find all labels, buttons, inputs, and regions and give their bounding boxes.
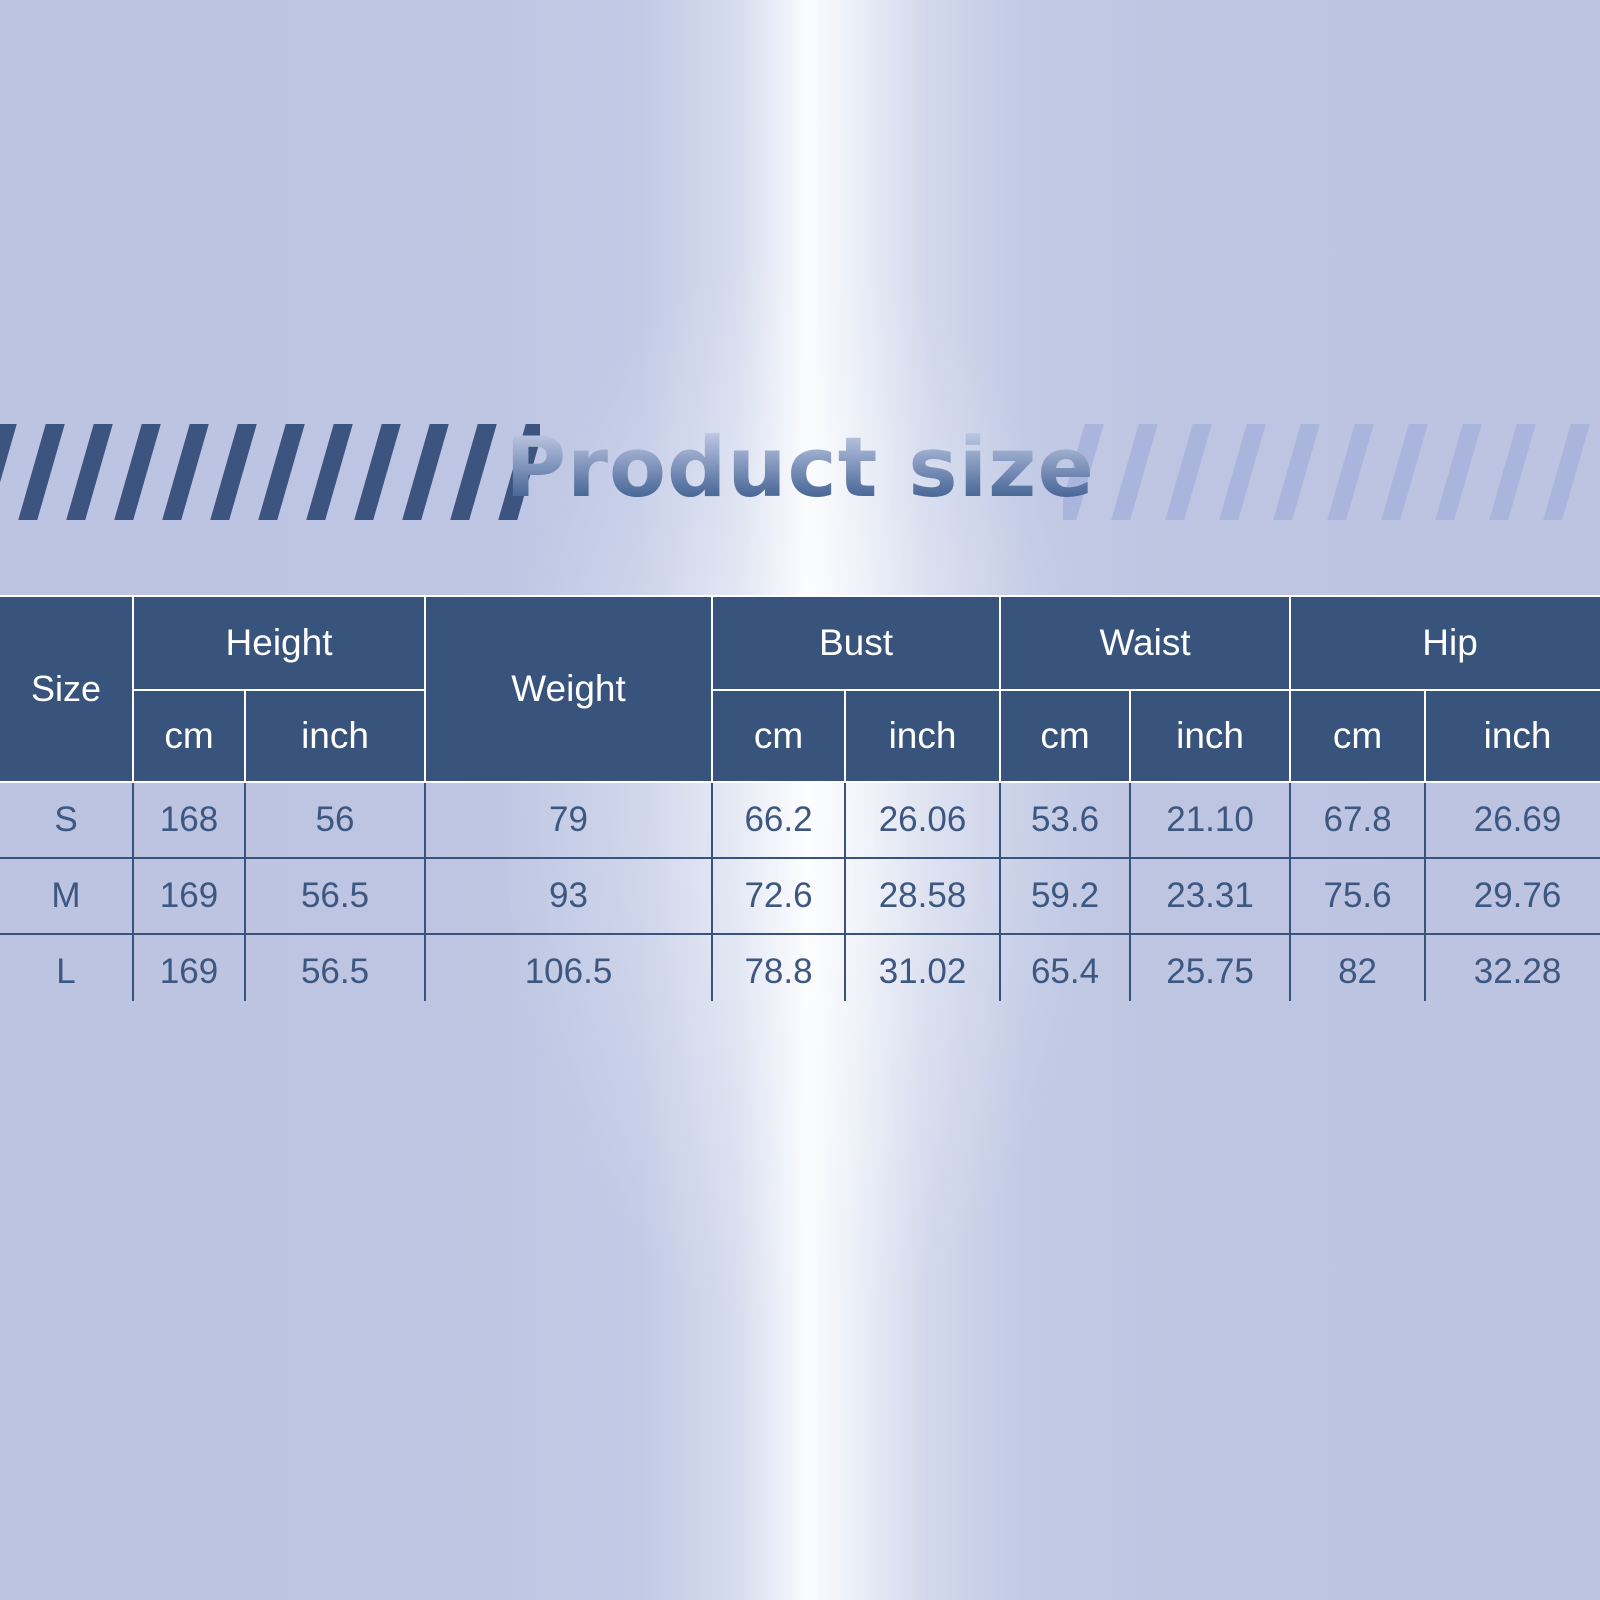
cell-bust-cm: 78.8 [712,934,845,1001]
header-height: Height [133,596,425,690]
cell-hip-inch: 32.28 [1425,934,1600,1001]
cell-hip-inch: 26.69 [1425,782,1600,858]
cell-weight-kg: 79 [425,782,712,858]
cell-waist-cm: 59.2 [1000,858,1130,934]
size-table-container: Size Height Weight Bust Waist Hip cm inc… [0,595,1600,1001]
cell-weight-kg: 106.5 [425,934,712,1001]
cell-size: L [0,934,133,1001]
cell-hip-cm: 75.6 [1290,858,1425,934]
header-hip: Hip [1290,596,1600,690]
cell-hip-cm: 82 [1290,934,1425,1001]
size-table-body: S168567966.226.0653.621.1067.826.69M1695… [0,782,1600,1001]
cell-waist-cm: 53.6 [1000,782,1130,858]
cell-size: S [0,782,133,858]
header-bust-cm: cm [712,690,845,782]
cell-size: M [0,858,133,934]
table-row: M16956.59372.628.5859.223.3175.629.76 [0,858,1600,934]
cell-height-inch: 56.5 [245,934,425,1001]
header-waist-cm: cm [1000,690,1130,782]
cell-height-cm: 169 [133,934,245,1001]
header-height-inch: inch [245,690,425,782]
page-title: Product size [0,412,1600,524]
table-row: S168567966.226.0653.621.1067.826.69 [0,782,1600,858]
cell-height-inch: 56.5 [245,858,425,934]
cell-waist-inch: 23.31 [1130,858,1290,934]
cell-hip-inch: 29.76 [1425,858,1600,934]
cell-waist-inch: 25.75 [1130,934,1290,1001]
cell-bust-cm: 66.2 [712,782,845,858]
header-hip-inch: inch [1425,690,1600,782]
cell-hip-cm: 67.8 [1290,782,1425,858]
header-height-cm: cm [133,690,245,782]
header-weight: Weight [425,596,712,782]
size-table: Size Height Weight Bust Waist Hip cm inc… [0,595,1600,1001]
cell-bust-inch: 31.02 [845,934,1000,1001]
header-size: Size [0,596,133,782]
cell-height-inch: 56 [245,782,425,858]
table-row: L16956.5106.578.831.0265.425.758232.28 [0,934,1600,1001]
header-waist-inch: inch [1130,690,1290,782]
cell-bust-inch: 28.58 [845,858,1000,934]
cell-weight-kg: 93 [425,858,712,934]
cell-waist-cm: 65.4 [1000,934,1130,1001]
cell-bust-cm: 72.6 [712,858,845,934]
product-size-chart-page: Product size Size Height Weight Bust Wai… [0,0,1600,1600]
header-bust-inch: inch [845,690,1000,782]
size-table-head: Size Height Weight Bust Waist Hip cm inc… [0,596,1600,782]
header-waist: Waist [1000,596,1290,690]
cell-height-cm: 169 [133,858,245,934]
cell-height-cm: 168 [133,782,245,858]
cell-bust-inch: 26.06 [845,782,1000,858]
cell-waist-inch: 21.10 [1130,782,1290,858]
header-hip-cm: cm [1290,690,1425,782]
header-bust: Bust [712,596,1000,690]
